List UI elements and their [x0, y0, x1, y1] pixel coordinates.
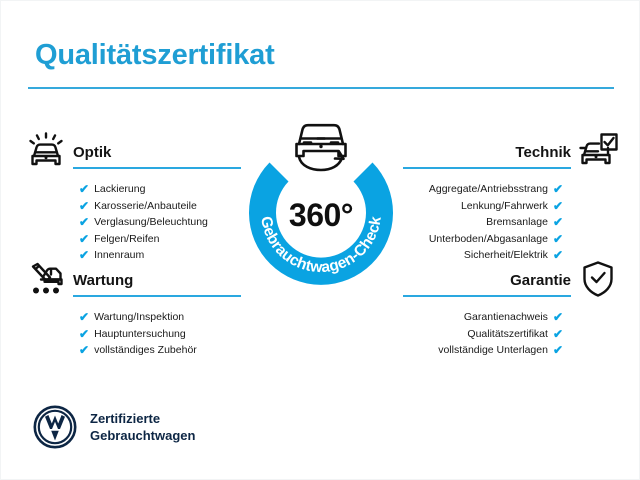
badge-360-gebrauchtwagen-check: Gebrauchtwagen-Check 360° — [233, 120, 409, 296]
check-icon: ✔ — [79, 344, 89, 356]
section-technik: Technik Aggr — [389, 131, 621, 264]
check-icon: ✔ — [553, 200, 563, 212]
page-title: Qualitätszertifikat — [35, 39, 275, 72]
list-item: Lenkung/Fahrwerk✔ — [389, 198, 621, 215]
volkswagen-claim-line2: Gebrauchtwagen — [90, 427, 195, 444]
list-item-label: Hauptuntersuchung — [94, 326, 186, 343]
list-item-label: Lenkung/Fahrwerk — [461, 198, 548, 215]
list-item: ✔Verglasung/Beleuchtung — [23, 214, 255, 231]
check-icon: ✔ — [553, 216, 563, 228]
list-item: ✔Felgen/Reifen — [23, 231, 255, 248]
list-item-label: Garantienachweis — [464, 309, 548, 326]
checklist-optik: ✔Lackierung ✔Karosserie/Anbauteile ✔Verg… — [23, 181, 255, 264]
check-icon: ✔ — [79, 233, 89, 245]
check-icon: ✔ — [553, 311, 563, 323]
section-wartung: Wartung ✔Wartung/Inspektion ✔Hauptunters… — [23, 259, 255, 359]
check-icon: ✔ — [553, 328, 563, 340]
list-item: ✔Wartung/Inspektion — [23, 309, 255, 326]
section-title-wartung: Wartung — [69, 273, 255, 290]
list-item: ✔vollständiges Zubehör — [23, 342, 255, 359]
list-item-label: Wartung/Inspektion — [94, 309, 184, 326]
volkswagen-footer: Zertifizierte Gebrauchtwagen — [33, 405, 195, 449]
list-item-label: Aggregate/Antriebsstrang — [429, 181, 548, 198]
list-item: Bremsanlage✔ — [389, 214, 621, 231]
checklist-wartung: ✔Wartung/Inspektion ✔Hauptuntersuchung ✔… — [23, 309, 255, 359]
section-garantie: Garantie Garantienachweis✔ Qualitätszert… — [389, 259, 621, 359]
list-item-label: Unterboden/Abgasanlage — [429, 231, 548, 248]
check-icon: ✔ — [553, 233, 563, 245]
check-icon: ✔ — [79, 200, 89, 212]
car-front-rotating-icon — [283, 116, 359, 174]
list-item: Garantienachweis✔ — [389, 309, 621, 326]
list-item: ✔Lackierung — [23, 181, 255, 198]
list-item: Unterboden/Abgasanlage✔ — [389, 231, 621, 248]
list-item: ✔Karosserie/Anbauteile — [23, 198, 255, 215]
section-optik: Optik ✔Lackierung ✔Karosserie/Anbauteile… — [23, 131, 255, 264]
check-icon: ✔ — [79, 183, 89, 195]
list-item: Qualitätszertifikat✔ — [389, 326, 621, 343]
car-front-shine-icon — [23, 131, 69, 171]
section-title-technik: Technik — [389, 145, 575, 162]
list-item-label: vollständige Unterlagen — [438, 342, 548, 359]
list-item-label: Karosserie/Anbauteile — [94, 198, 197, 215]
section-title-garantie: Garantie — [389, 273, 575, 290]
volkswagen-claim: Zertifizierte Gebrauchtwagen — [90, 410, 195, 444]
volkswagen-logo — [33, 405, 77, 449]
list-item-label: Verglasung/Beleuchtung — [94, 214, 208, 231]
list-item: vollständige Unterlagen✔ — [389, 342, 621, 359]
list-item-label: vollständiges Zubehör — [94, 342, 197, 359]
check-icon: ✔ — [79, 216, 89, 228]
section-divider-wartung — [73, 295, 241, 297]
check-icon: ✔ — [79, 328, 89, 340]
list-item-label: Bremsanlage — [486, 214, 548, 231]
wrench-car-service-icon — [23, 259, 69, 299]
shield-check-icon — [575, 259, 621, 299]
check-icon: ✔ — [553, 183, 563, 195]
car-front-checkbox-icon — [575, 131, 621, 171]
list-item-label: Lackierung — [94, 181, 145, 198]
title-divider — [28, 87, 614, 89]
list-item-label: Felgen/Reifen — [94, 231, 159, 248]
volkswagen-claim-line1: Zertifizierte — [90, 410, 195, 427]
section-title-optik: Optik — [69, 145, 255, 162]
list-item: Aggregate/Antriebsstrang✔ — [389, 181, 621, 198]
check-icon: ✔ — [553, 344, 563, 356]
section-divider-optik — [73, 167, 241, 169]
qualitaetszertifikat-page: Qualitätszertifikat — [0, 0, 640, 480]
checklist-technik: Aggregate/Antriebsstrang✔ Lenkung/Fahrwe… — [389, 181, 621, 264]
check-icon: ✔ — [79, 311, 89, 323]
checklist-garantie: Garantienachweis✔ Qualitätszertifikat✔ v… — [389, 309, 621, 359]
list-item: ✔Hauptuntersuchung — [23, 326, 255, 343]
list-item-label: Qualitätszertifikat — [467, 326, 548, 343]
section-divider-technik — [403, 167, 571, 169]
section-divider-garantie — [403, 295, 571, 297]
